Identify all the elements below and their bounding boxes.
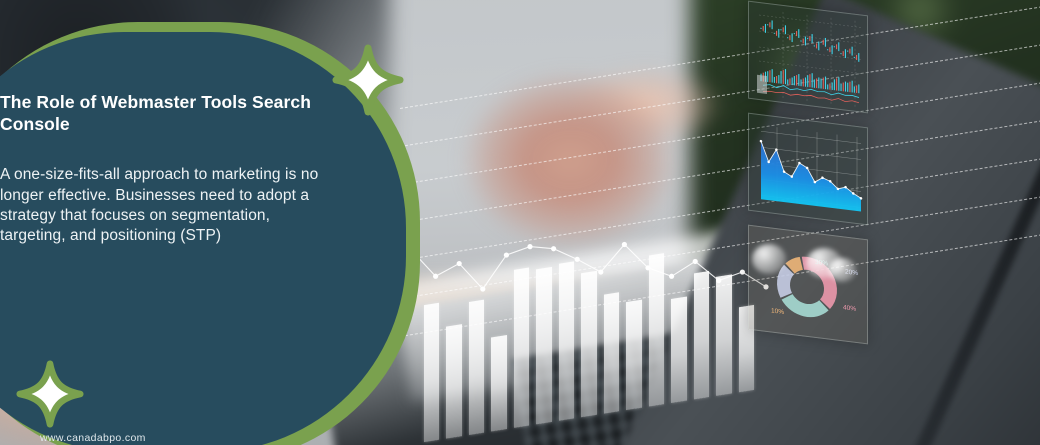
sparkle-top-icon (332, 44, 404, 116)
website-url[interactable]: www.canadabpo.com (40, 432, 146, 444)
body-paragraph: A one-size-fits-all approach to marketin… (0, 165, 330, 246)
page-title: The Role of Webmaster Tools Search Conso… (0, 92, 330, 135)
sparkle-bottom-icon (16, 360, 84, 428)
marketing-banner: 40%30%20%10% The Role of Webmaster Tools… (0, 0, 1040, 445)
card-content: The Role of Webmaster Tools Search Conso… (0, 92, 330, 246)
background-pointing-hand (430, 50, 730, 280)
